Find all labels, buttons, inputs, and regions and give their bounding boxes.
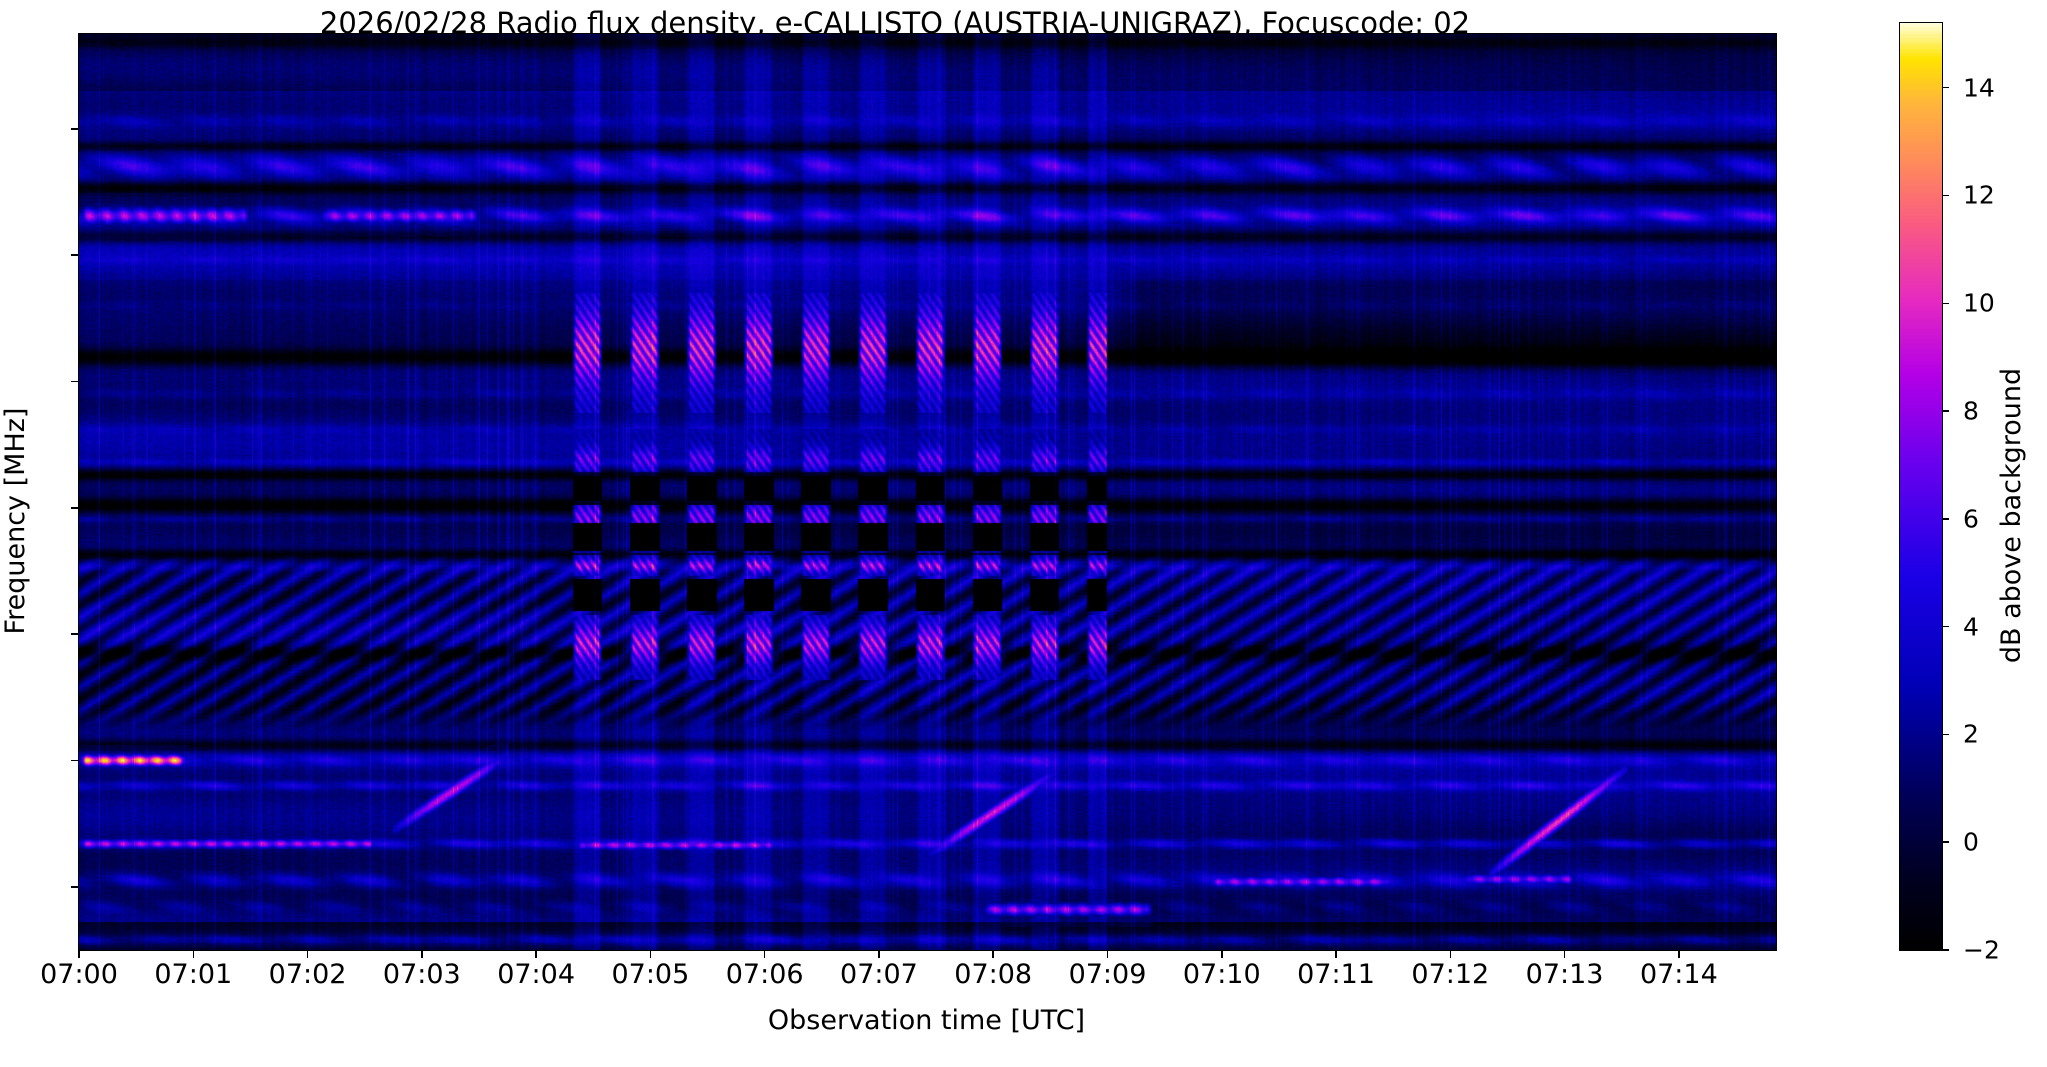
colorbar-tick-label: 14	[1963, 73, 1995, 102]
colorbar-tick-label: 4	[1963, 612, 1979, 641]
colorbar-tick-mark	[1942, 410, 1949, 412]
colorbar-tick-mark	[1942, 841, 1949, 843]
colorbar-tick-label: 2	[1963, 720, 1979, 749]
colorbar-tick-label: 12	[1963, 181, 1995, 210]
colorbar-tick-label: 10	[1963, 289, 1995, 318]
colorbar-ticks: 14121086420−2	[0, 0, 2047, 1067]
colorbar-tick-mark	[1942, 87, 1949, 89]
colorbar-tick-mark	[1942, 626, 1949, 628]
colorbar-tick-mark	[1942, 734, 1949, 736]
colorbar-tick-mark	[1942, 949, 1949, 951]
colorbar-tick-mark	[1942, 518, 1949, 520]
colorbar-tick-mark	[1942, 303, 1949, 305]
colorbar-tick-mark	[1942, 195, 1949, 197]
colorbar-tick-label: −2	[1963, 936, 2000, 965]
colorbar-tick-label: 8	[1963, 397, 1979, 426]
colorbar-tick-label: 0	[1963, 828, 1979, 857]
spectrogram-figure: 2026/02/28 Radio flux density, e-CALLIST…	[0, 0, 2047, 1067]
colorbar-tick-label: 6	[1963, 504, 1979, 533]
colorbar-label: dB above background	[1996, 52, 2026, 979]
